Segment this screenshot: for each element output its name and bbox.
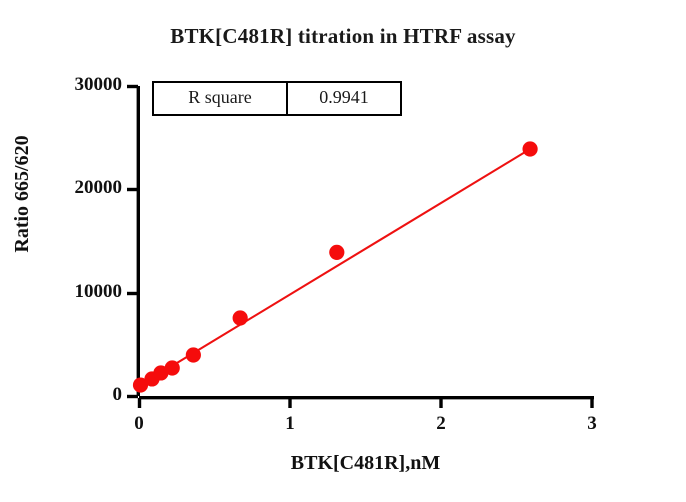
regression-line: [141, 149, 531, 385]
data-point: [522, 141, 537, 156]
y-tick-label: 10000: [0, 281, 122, 303]
x-axis-label: BTK[C481R],nM: [139, 452, 592, 475]
r-square-value: 0.9941: [288, 83, 400, 114]
r-square-label: R square: [154, 83, 288, 114]
chart-figure: BTK[C481R] titration in HTRF assay Ratio…: [0, 0, 686, 502]
x-tick-label: 1: [260, 413, 320, 435]
data-point: [165, 360, 180, 375]
data-point: [329, 245, 344, 260]
x-tick-label: 2: [411, 413, 471, 435]
y-tick-label: 20000: [0, 177, 122, 199]
data-point: [233, 310, 248, 325]
y-tick-label: 30000: [0, 74, 122, 96]
data-point: [186, 347, 201, 362]
y-tick-label: 0: [0, 384, 122, 406]
r-square-box: R square 0.9941: [152, 81, 402, 116]
x-tick-label: 0: [109, 413, 169, 435]
x-tick-label: 3: [562, 413, 622, 435]
fit-line-segment: [141, 149, 531, 385]
